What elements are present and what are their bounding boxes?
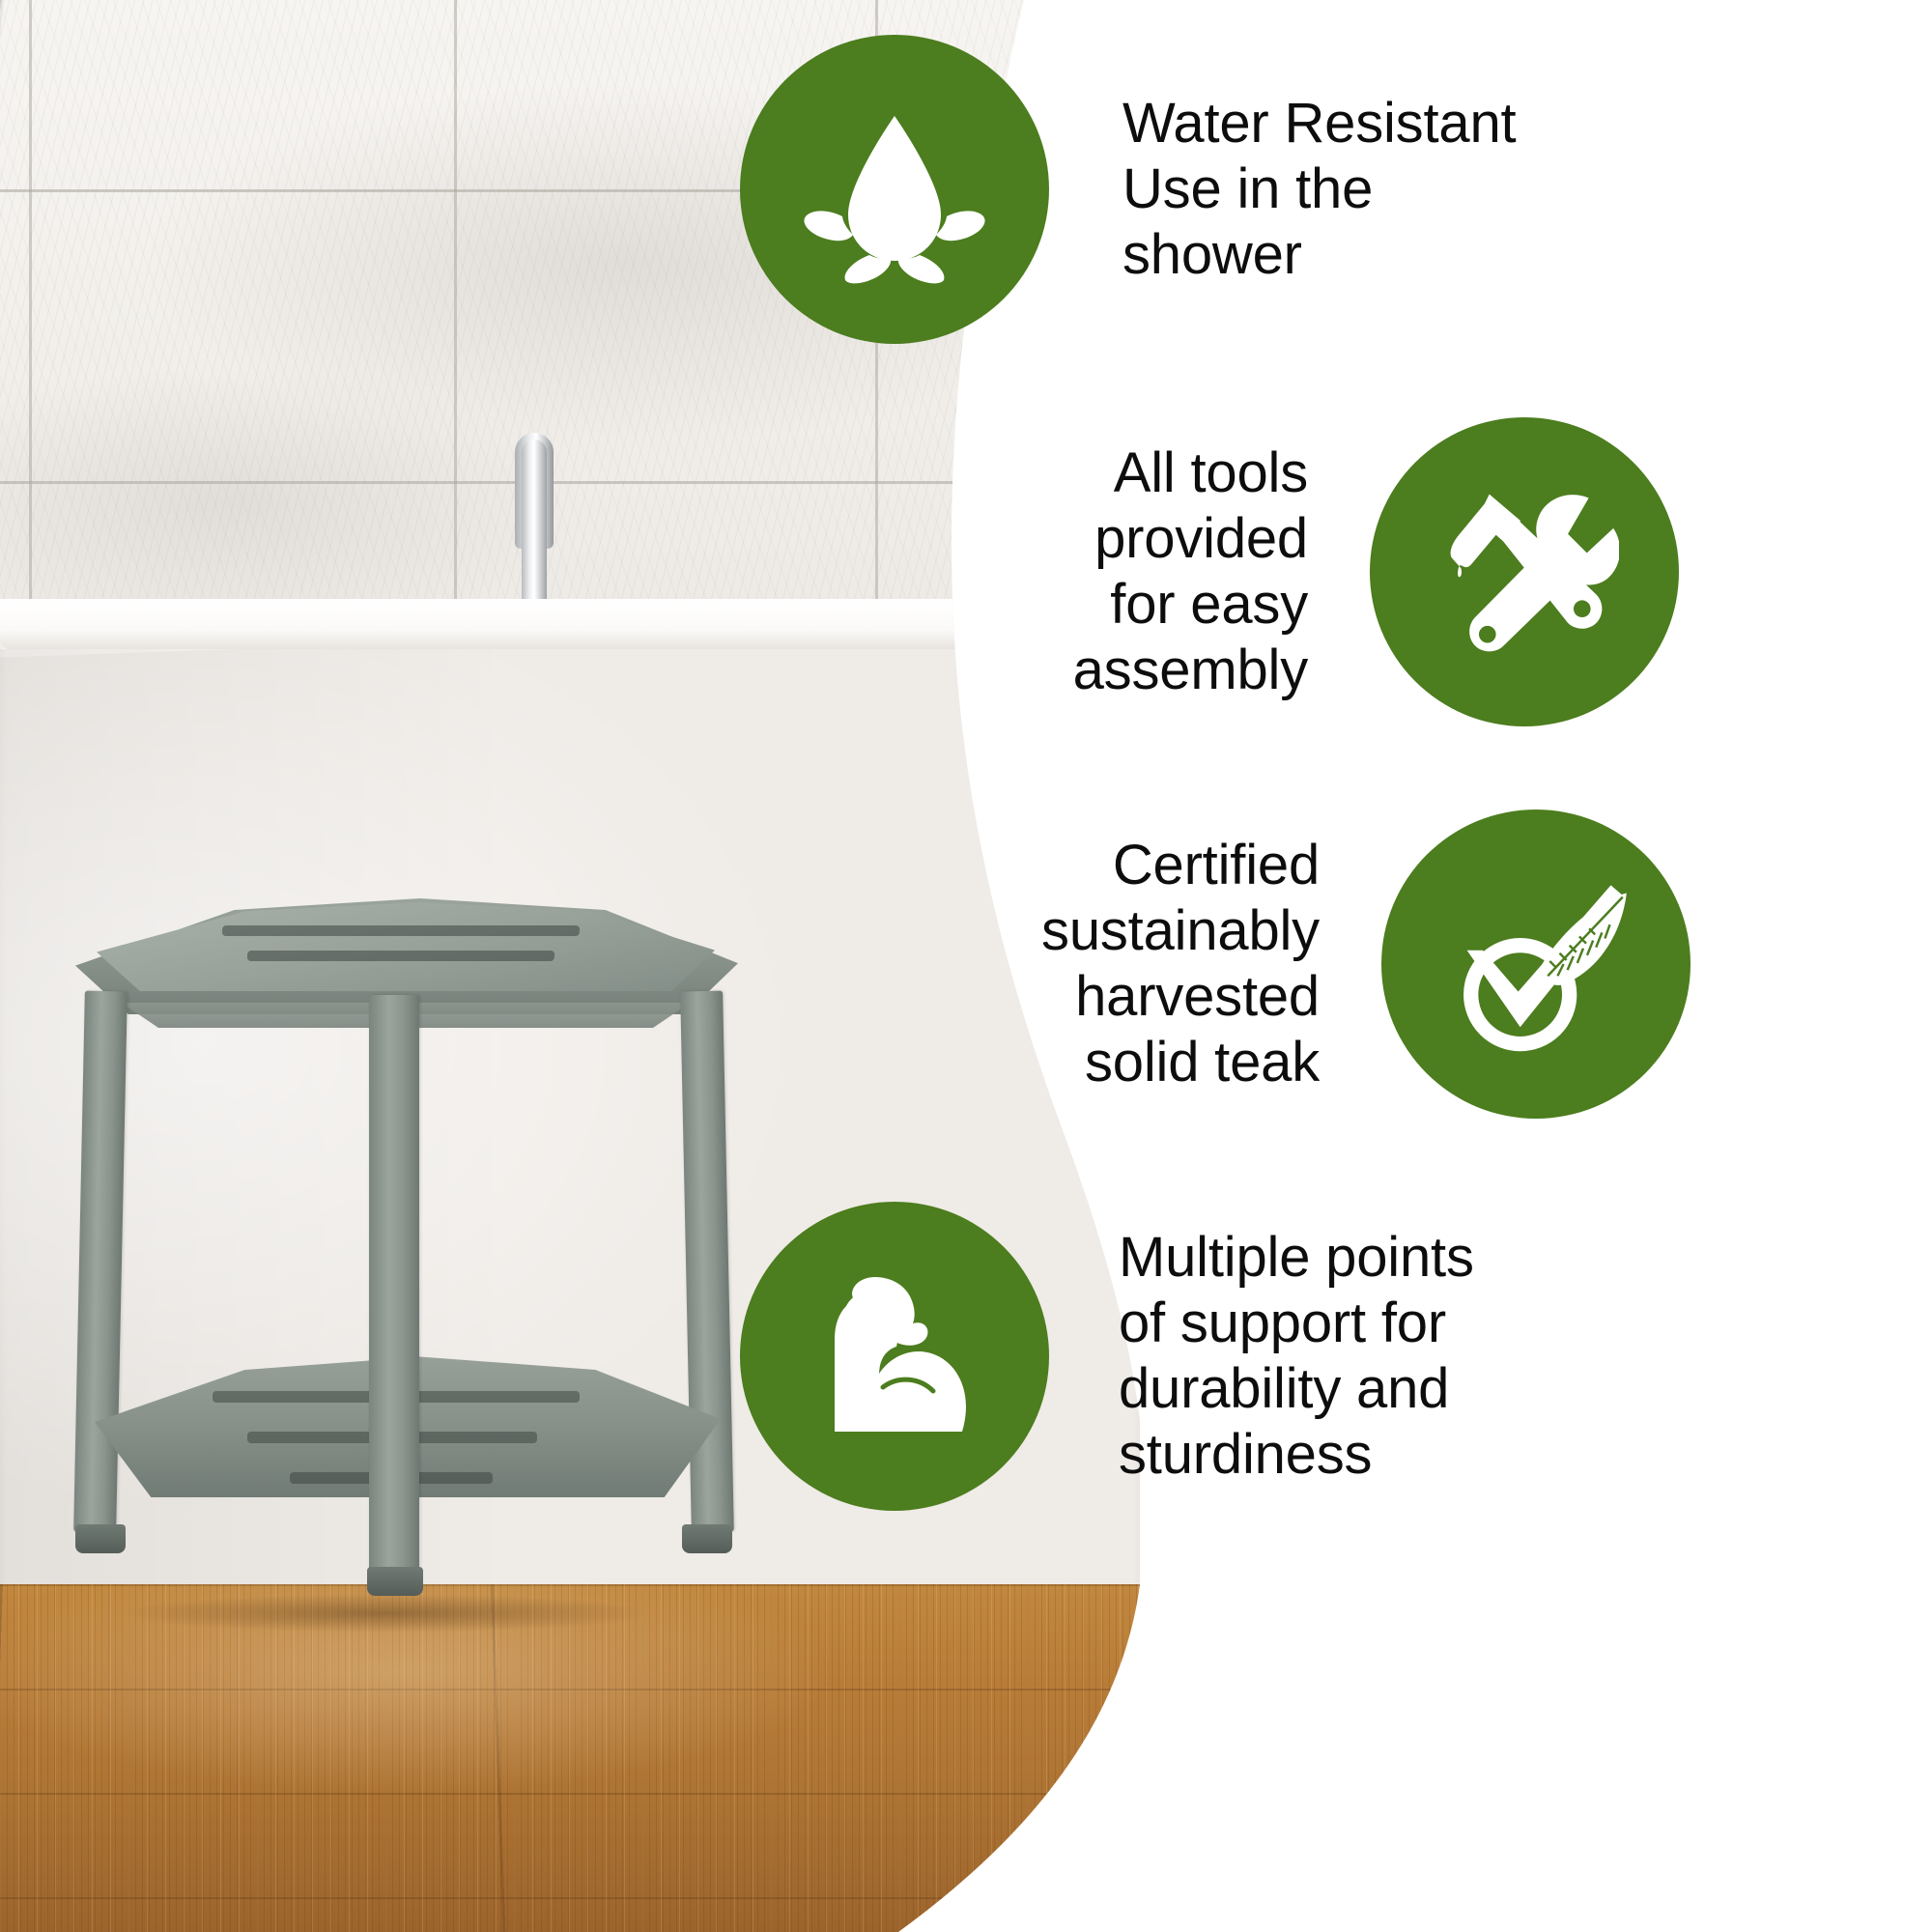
feature-icon-badge [740,1202,1049,1511]
feature-item-sustainable-teak: Certified sustainably harvested solid te… [846,810,1690,1119]
leaf-check-icon [1437,866,1634,1063]
feature-icon-badge [740,35,1049,344]
feature-list: Water Resistant Use in the shower All to… [0,0,1932,1932]
feature-item-water-resistant: Water Resistant Use in the shower [740,35,1528,344]
water-drop-splash-icon [798,93,991,286]
feature-icon-badge [1370,417,1679,726]
feature-icon-badge [1381,810,1690,1119]
feature-item-tools-provided: All tools provided for easy assembly [854,417,1679,726]
flexed-bicep-icon [798,1260,991,1453]
infographic-canvas: Water Resistant Use in the shower All to… [0,0,1932,1932]
feature-label: Water Resistant Use in the shower [1122,91,1528,288]
hammer-wrench-icon [1430,477,1619,667]
feature-label: Multiple points of support for durabilit… [1119,1225,1582,1487]
feature-label: All tools provided for easy assembly [854,440,1308,702]
feature-item-multiple-support: Multiple points of support for durabilit… [740,1202,1582,1511]
feature-label: Certified sustainably harvested solid te… [846,833,1320,1094]
